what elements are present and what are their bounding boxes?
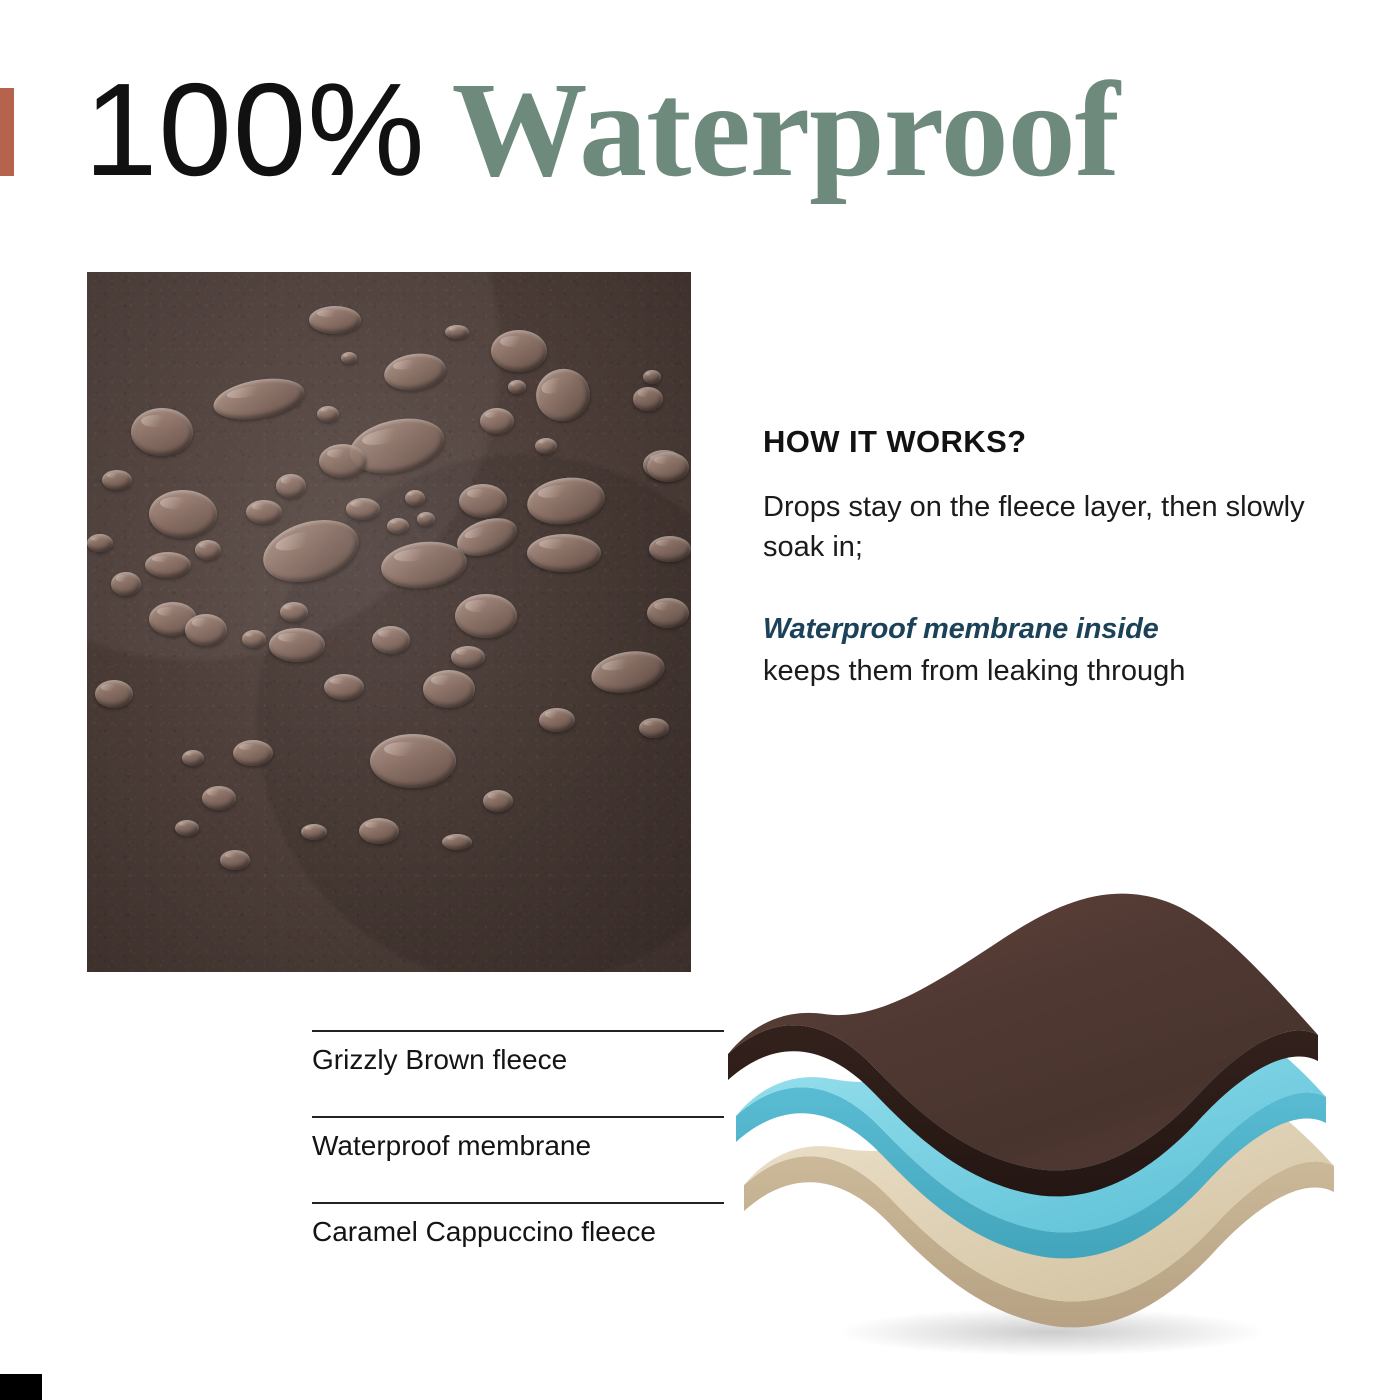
droplet — [529, 361, 598, 428]
droplet — [182, 750, 204, 766]
droplet — [588, 646, 668, 698]
corner-mark — [0, 1374, 42, 1400]
droplet — [131, 408, 193, 456]
droplet — [269, 628, 325, 662]
legend-item-bottom-fleece: Caramel Cappuccino fleece — [312, 1202, 724, 1248]
legend-item-top-fleece: Grizzly Brown fleece — [312, 1030, 724, 1076]
droplet — [379, 538, 469, 593]
droplet — [111, 572, 141, 596]
droplet — [220, 850, 250, 870]
droplet — [535, 438, 557, 454]
droplet — [524, 473, 608, 529]
droplet — [246, 500, 282, 524]
droplet — [202, 786, 236, 810]
droplet — [455, 594, 517, 638]
droplet — [242, 630, 266, 648]
droplet — [633, 387, 663, 411]
how-it-works-block: HOW IT WORKS? Drops stay on the fleece l… — [763, 425, 1323, 691]
droplet — [508, 380, 526, 394]
droplet — [451, 646, 485, 668]
legend-label: Grizzly Brown fleece — [312, 1032, 724, 1076]
droplet — [95, 680, 133, 708]
how-it-works-emphasis: Waterproof membrane inside — [763, 609, 1323, 649]
accent-bar — [0, 88, 14, 176]
droplet — [210, 372, 307, 425]
legend-label: Waterproof membrane — [312, 1118, 724, 1162]
droplet — [405, 490, 425, 506]
how-it-works-paragraph-2-text: keeps them from leaking through — [763, 655, 1185, 687]
how-it-works-paragraph-2: Waterproof membrane insidekeeps them fro… — [763, 609, 1323, 691]
droplet — [643, 370, 661, 384]
droplet — [647, 452, 689, 482]
droplet — [423, 670, 475, 708]
droplet — [185, 614, 227, 646]
droplet — [319, 444, 367, 478]
droplet — [372, 626, 410, 654]
droplet — [341, 352, 357, 364]
droplet — [346, 498, 380, 520]
droplet — [309, 306, 361, 334]
droplet — [459, 484, 507, 518]
droplet — [382, 350, 448, 394]
how-it-works-title: HOW IT WORKS? — [763, 425, 1323, 459]
how-it-works-paragraph-1: Drops stay on the fleece layer, then slo… — [763, 487, 1323, 567]
droplet — [417, 512, 435, 526]
droplet — [359, 818, 399, 844]
droplet — [639, 718, 669, 738]
water-droplets-photo — [87, 272, 691, 972]
legend-item-membrane: Waterproof membrane — [312, 1116, 724, 1162]
droplet — [647, 598, 689, 628]
droplet — [301, 824, 327, 840]
droplet — [480, 408, 514, 434]
droplet — [483, 790, 513, 812]
droplet — [280, 602, 308, 622]
droplet — [539, 708, 575, 732]
droplet — [195, 540, 221, 560]
droplet — [149, 490, 217, 538]
droplet — [370, 734, 456, 788]
fabric-layers-illustration — [722, 880, 1362, 1360]
headline-number: 100% — [84, 56, 426, 203]
droplet — [324, 674, 364, 700]
droplet — [445, 325, 469, 339]
page-title: 100%Waterproof — [84, 62, 1119, 198]
droplet — [387, 518, 409, 534]
droplet — [442, 834, 472, 850]
droplet — [175, 820, 199, 836]
headline-word: Waterproof — [452, 55, 1119, 205]
droplet — [233, 740, 273, 766]
legend-label: Caramel Cappuccino fleece — [312, 1204, 724, 1248]
droplet — [317, 406, 339, 422]
droplet — [145, 552, 191, 578]
layer-legend: Grizzly Brown fleece Waterproof membrane… — [312, 1030, 724, 1248]
droplet — [87, 534, 113, 552]
droplet — [102, 470, 132, 490]
droplet — [491, 330, 547, 372]
droplet — [276, 474, 306, 498]
droplet — [649, 536, 691, 562]
droplet — [527, 534, 601, 572]
